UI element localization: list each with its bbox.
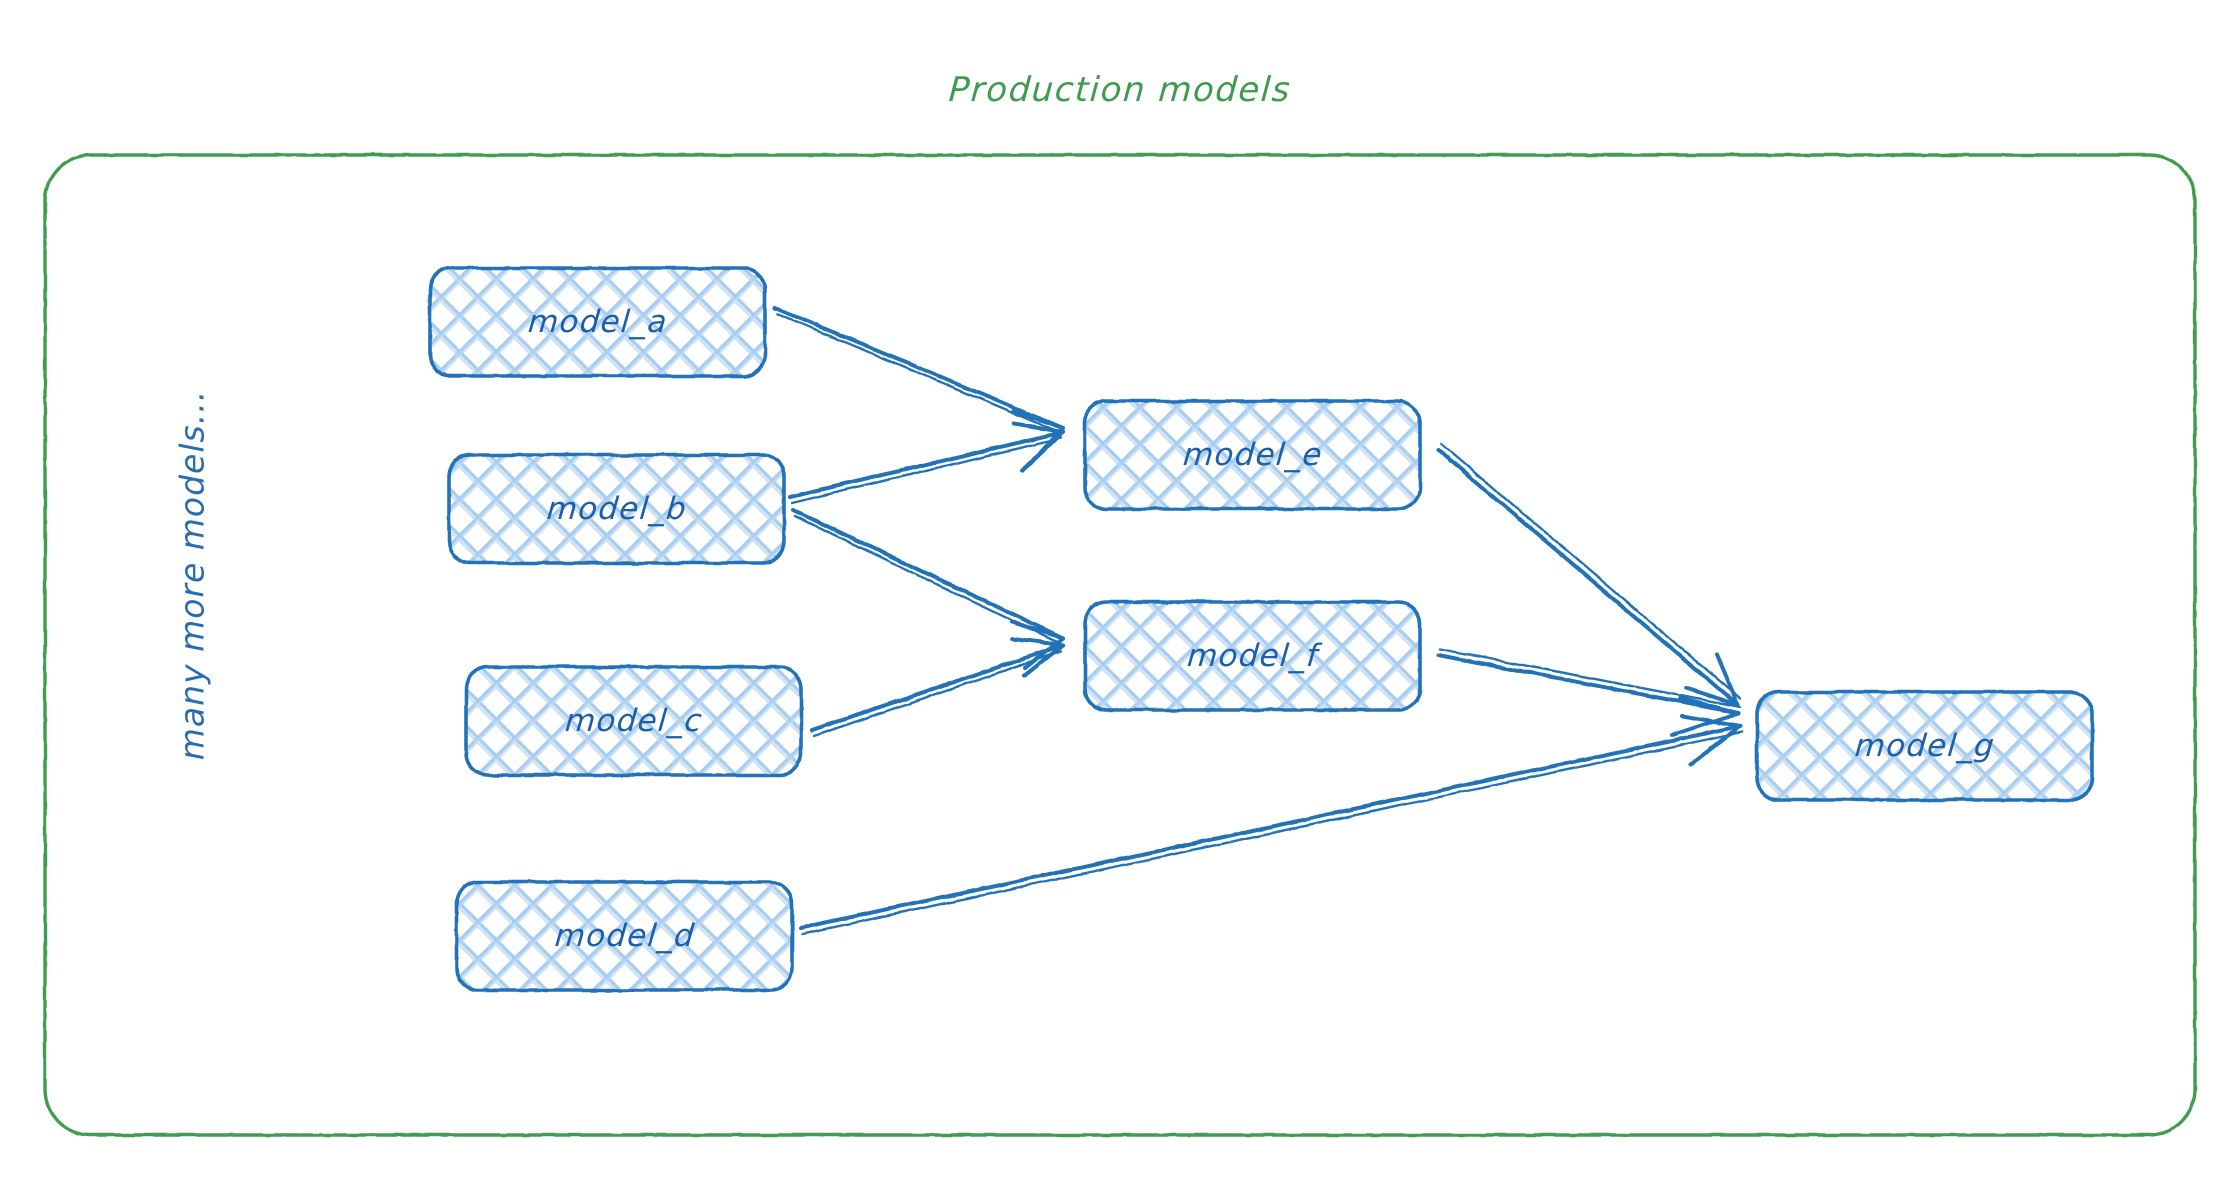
edge-model_c-to-model_f [812, 639, 1063, 736]
node-model_a[interactable] [430, 268, 765, 376]
node-model_f-fill-2 [1085, 602, 1420, 710]
edge-model_b-to-model_b-e [790, 424, 1063, 503]
node-model_c-fill-2 [466, 667, 801, 775]
edge-model_a-to-model_e [775, 308, 1063, 463]
node-model_e[interactable] [1085, 401, 1420, 509]
node-model_c[interactable] [466, 667, 801, 775]
edge-model_d-to-model_g [800, 716, 1742, 934]
node-model_a-fill-2 [430, 268, 765, 376]
node-model_b-fill-2 [449, 455, 784, 563]
edge-model_b-to-model_f [793, 510, 1063, 668]
many-more-models-note: many more models... [173, 375, 212, 775]
diagram-canvas: Production models many more models... mo… [0, 0, 2240, 1188]
node-model_d-fill-2 [457, 882, 792, 990]
node-model_g[interactable] [1757, 692, 2092, 800]
node-model_d[interactable] [457, 882, 792, 990]
page-title: Production models [0, 70, 2240, 110]
node-model_g-fill-2 [1757, 692, 2092, 800]
diagram-graphics [0, 0, 2240, 1188]
node-model_f[interactable] [1085, 602, 1420, 710]
node-model_e-fill-2 [1085, 401, 1420, 509]
node-model_b[interactable] [449, 455, 784, 563]
edge-model_e-to-model_g [1438, 444, 1741, 705]
node-layer [430, 268, 2092, 990]
